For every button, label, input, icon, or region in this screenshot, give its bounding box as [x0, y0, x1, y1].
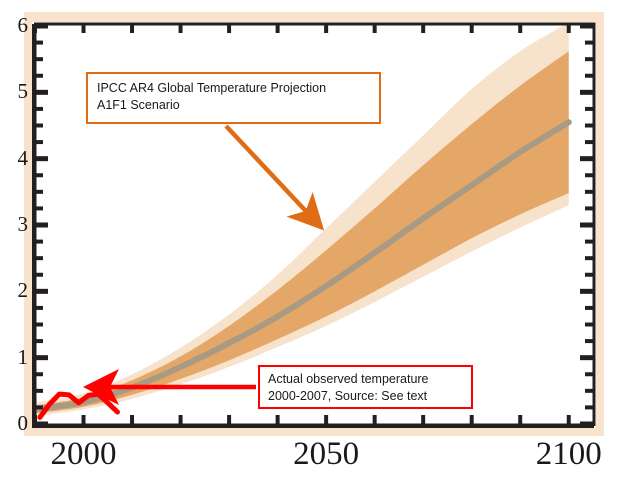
x-tick-label: 2000: [51, 438, 117, 471]
ipcc-annotation-line1: IPCC AR4 Global Temperature Projection: [97, 80, 370, 97]
y-tick-label: 3: [18, 214, 29, 235]
observed-annotation-box: Actual observed temperature 2000-2007, S…: [258, 365, 473, 409]
y-axis-labels: 0123456: [0, 0, 28, 480]
ipcc-annotation-box: IPCC AR4 Global Temperature Projection A…: [86, 72, 381, 124]
observed-annotation-line2: 2000-2007, Source: See text: [268, 388, 463, 405]
x-axis-labels: 200020502100: [0, 438, 629, 480]
ipcc-annotation-line2: A1F1 Scenario: [97, 97, 370, 114]
y-tick-label: 2: [18, 280, 29, 301]
y-tick-label: 5: [18, 81, 29, 102]
y-tick-label: 0: [18, 413, 29, 434]
y-tick-label: 6: [18, 15, 29, 36]
x-tick-label: 2050: [293, 438, 359, 471]
chart-figure: 0123456 200020502100 IPCC AR4 Global Tem…: [0, 0, 629, 480]
y-tick-label: 4: [18, 148, 29, 169]
observed-annotation-line1: Actual observed temperature: [268, 371, 463, 388]
x-tick-label: 2100: [536, 438, 602, 471]
y-tick-label: 1: [18, 347, 29, 368]
